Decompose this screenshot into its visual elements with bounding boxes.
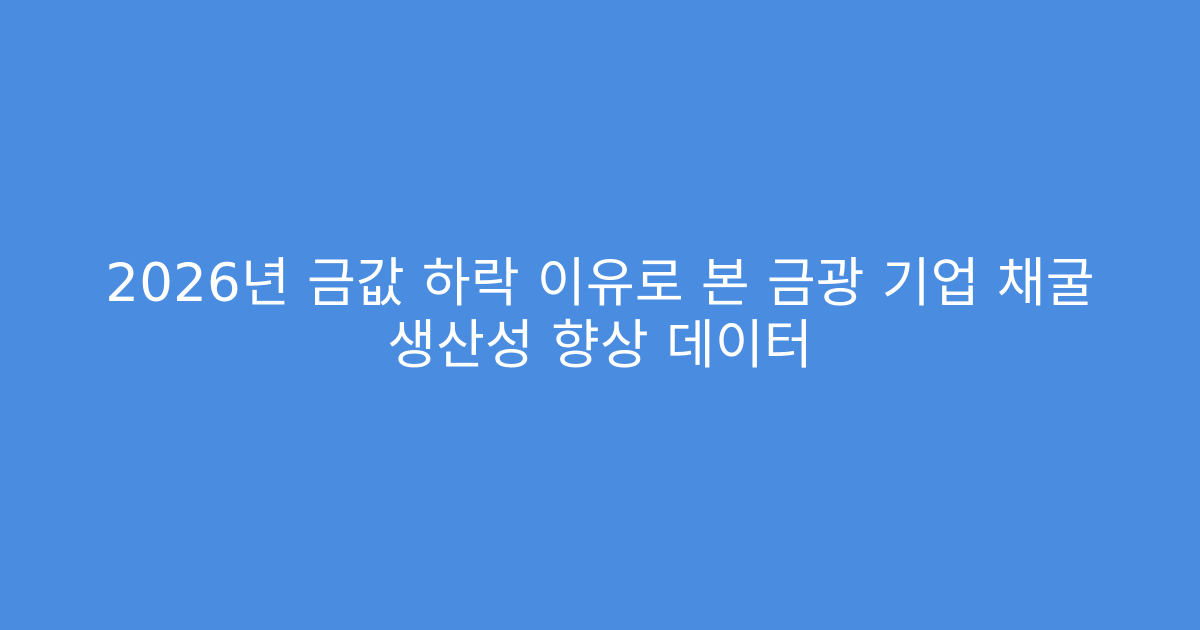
og-share-card: 2026년 금값 하락 이유로 본 금광 기업 채굴 생산성 향상 데이터 <box>0 0 1200 630</box>
page-title: 2026년 금값 하락 이유로 본 금광 기업 채굴 생산성 향상 데이터 <box>58 253 1142 377</box>
